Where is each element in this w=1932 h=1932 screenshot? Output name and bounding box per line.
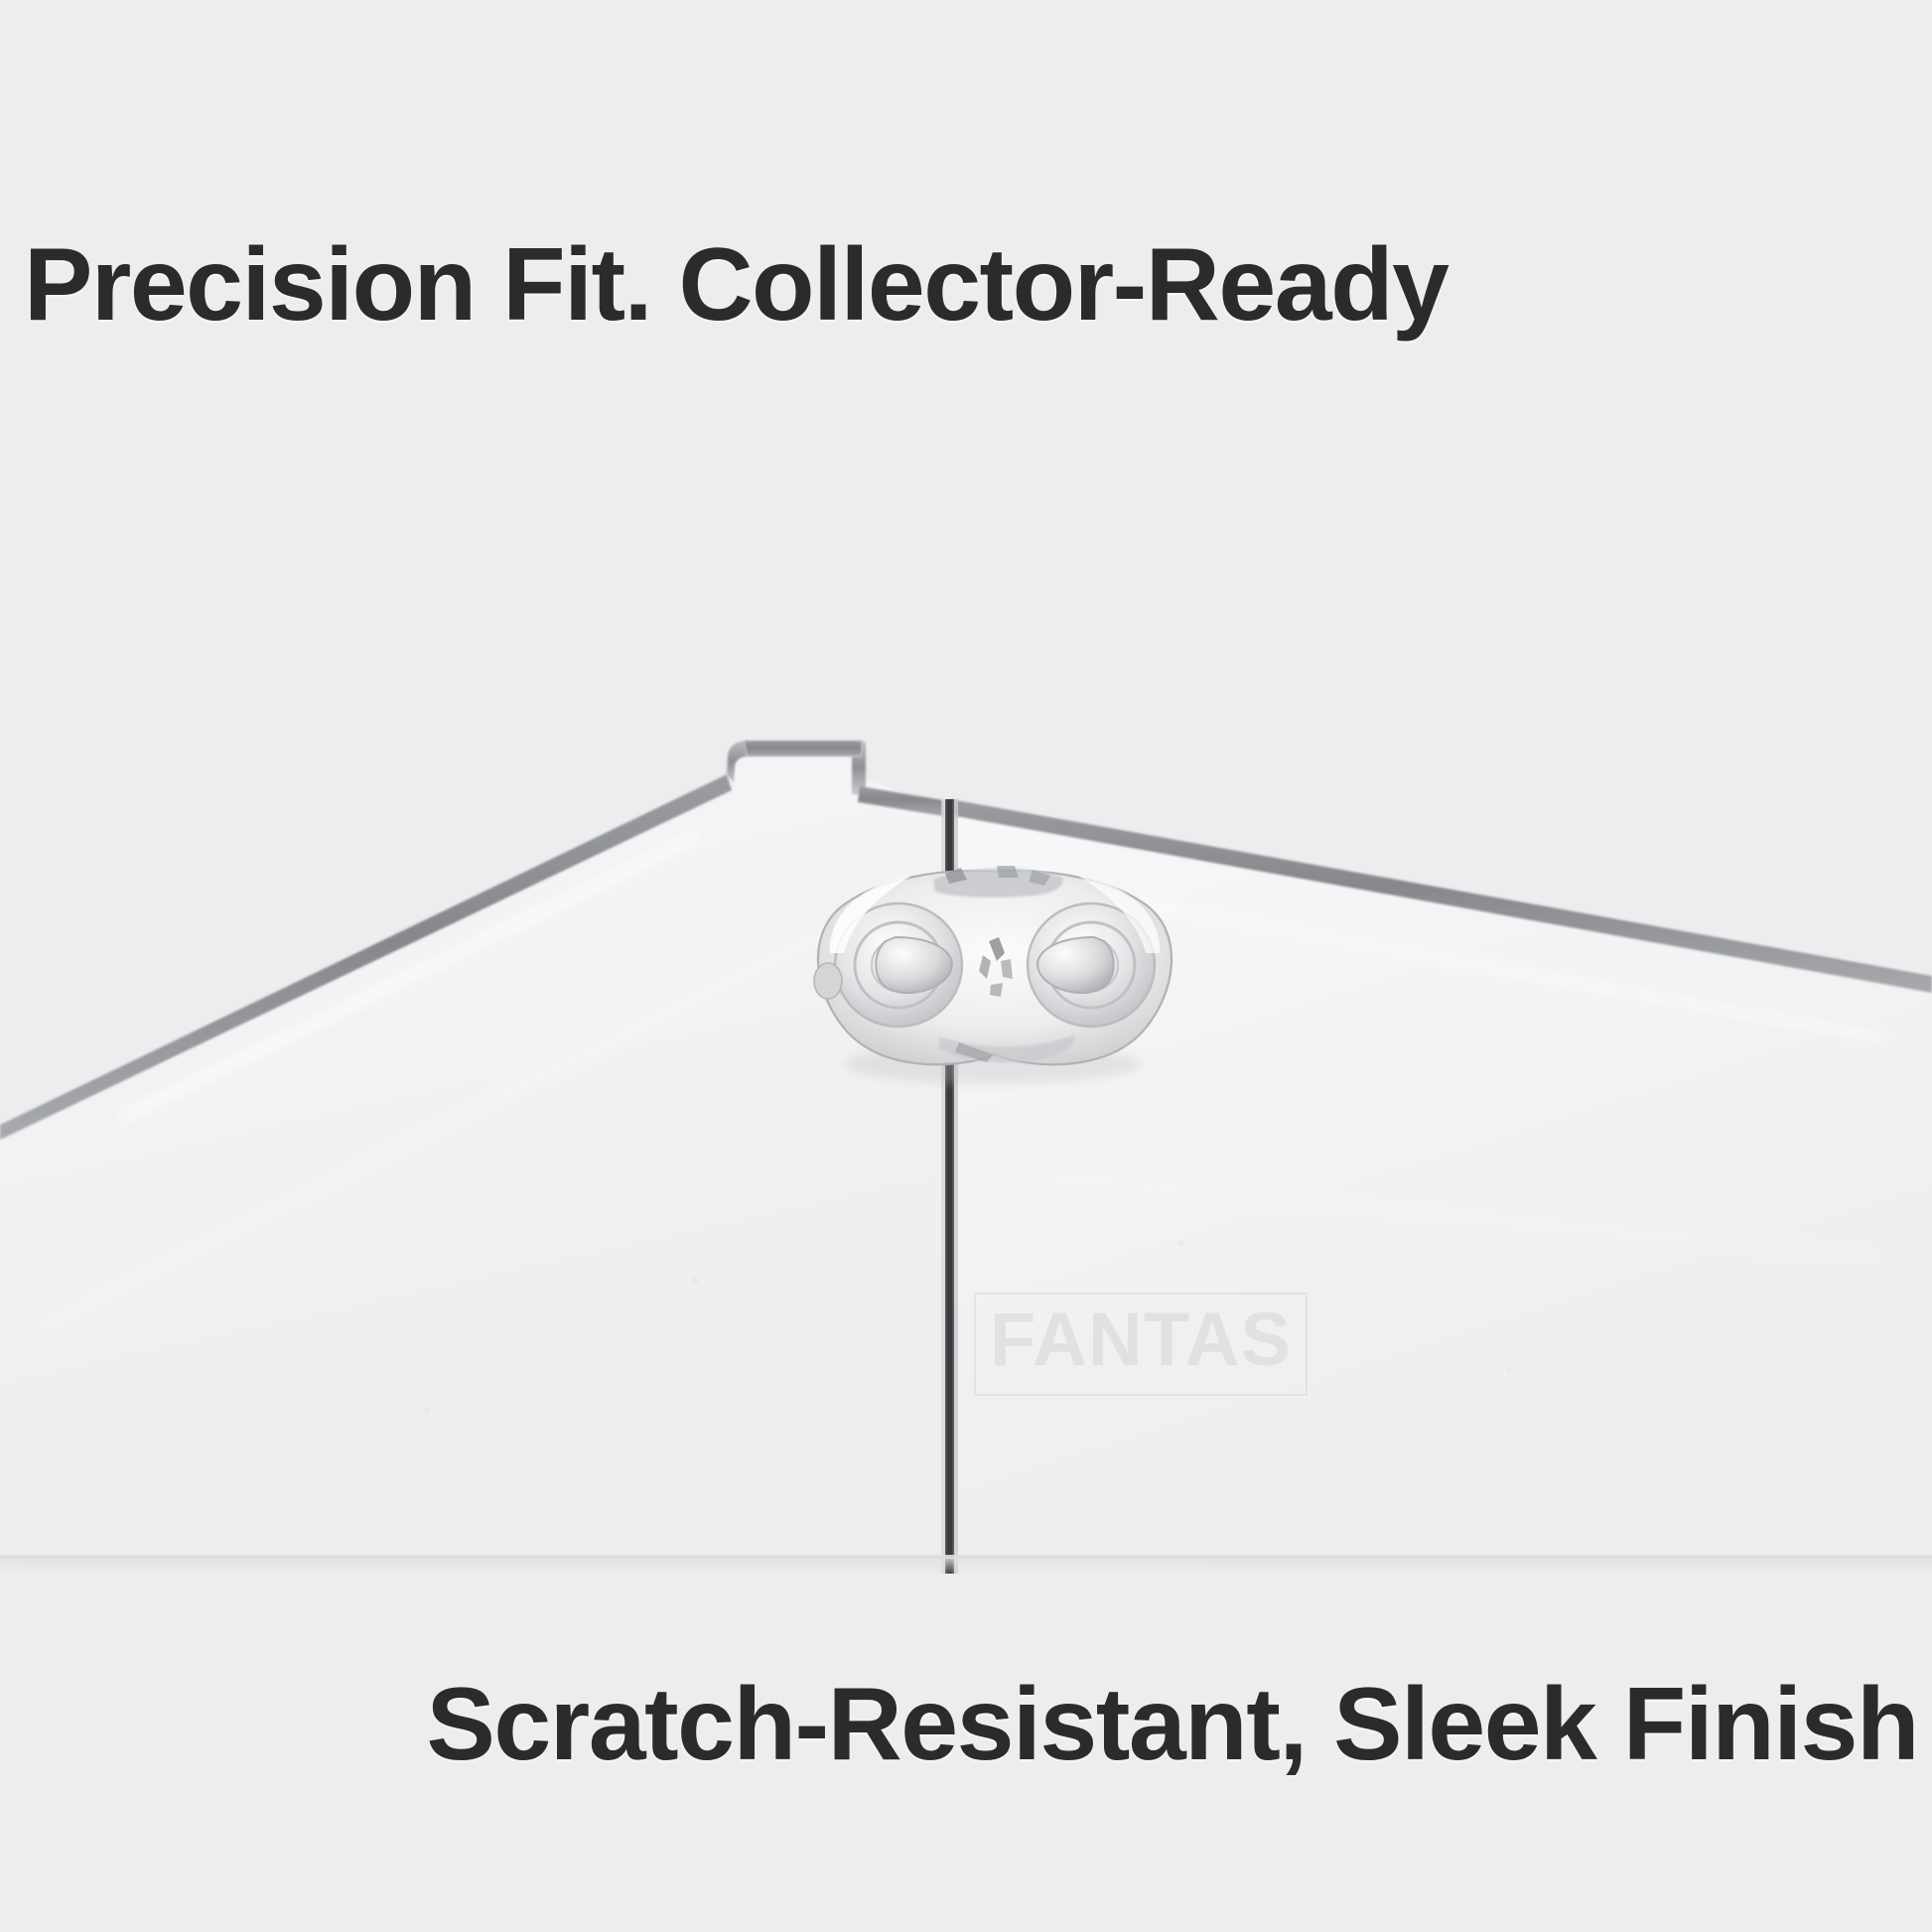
headline-text: Precision Fit. Collector-Ready [24, 224, 1712, 346]
subline-text: Scratch-Resistant, Sleek Finish [427, 1664, 1918, 1786]
product-feature-image: Precision Fit. Collector-Ready Scratch-R… [0, 0, 1932, 1932]
